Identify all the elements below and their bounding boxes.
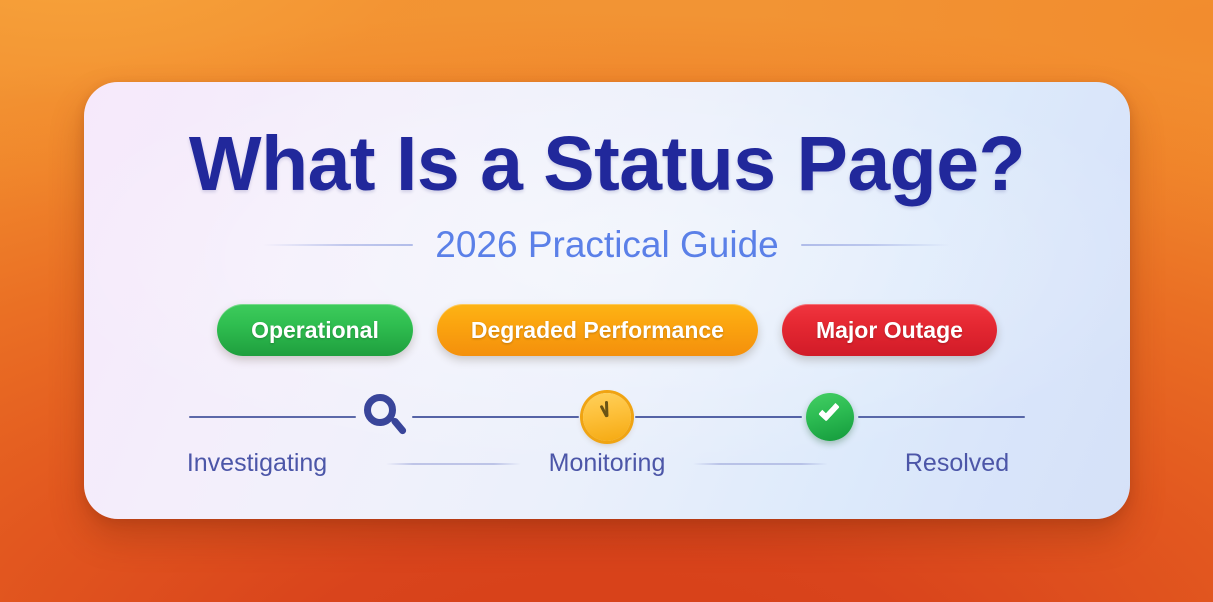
incident-timeline: Investigating Monitoring Resolved <box>84 385 1130 495</box>
timeline-label-resolved: Resolved <box>834 449 1080 478</box>
page-title: What Is a Status Page? <box>84 120 1130 209</box>
timeline-connector-2 <box>635 416 802 418</box>
timeline-connector-1 <box>412 416 579 418</box>
timeline-label-rule-1 <box>386 463 521 465</box>
status-badge-group: Operational Degraded Performance Major O… <box>84 304 1130 356</box>
timeline-connector-start <box>189 416 356 418</box>
subtitle-row: 2026 Practical Guide <box>84 224 1130 266</box>
timeline-label-monitoring: Monitoring <box>527 449 687 478</box>
status-badge-major-outage[interactable]: Major Outage <box>782 304 997 356</box>
clock-icon <box>583 393 631 441</box>
poster-canvas: What Is a Status Page? 2026 Practical Gu… <box>0 0 1213 602</box>
timeline-step-resolved[interactable] <box>802 389 858 445</box>
check-circle-icon <box>806 393 854 441</box>
status-badge-degraded-performance[interactable]: Degraded Performance <box>437 304 758 356</box>
subtitle-rule-left <box>263 244 413 246</box>
timeline-track <box>189 415 1025 418</box>
timeline-label-row: Investigating Monitoring Resolved <box>134 449 1080 478</box>
timeline-connector-end <box>858 416 1025 418</box>
page-subtitle: 2026 Practical Guide <box>435 224 778 266</box>
magnifier-icon <box>361 393 407 441</box>
timeline-step-investigating[interactable] <box>356 389 412 445</box>
subtitle-rule-right <box>801 244 951 246</box>
timeline-label-investigating: Investigating <box>134 449 380 478</box>
status-badge-operational[interactable]: Operational <box>217 304 413 356</box>
timeline-step-monitoring[interactable] <box>579 389 635 445</box>
status-page-card: What Is a Status Page? 2026 Practical Gu… <box>84 82 1130 519</box>
timeline-label-rule-2 <box>693 463 828 465</box>
